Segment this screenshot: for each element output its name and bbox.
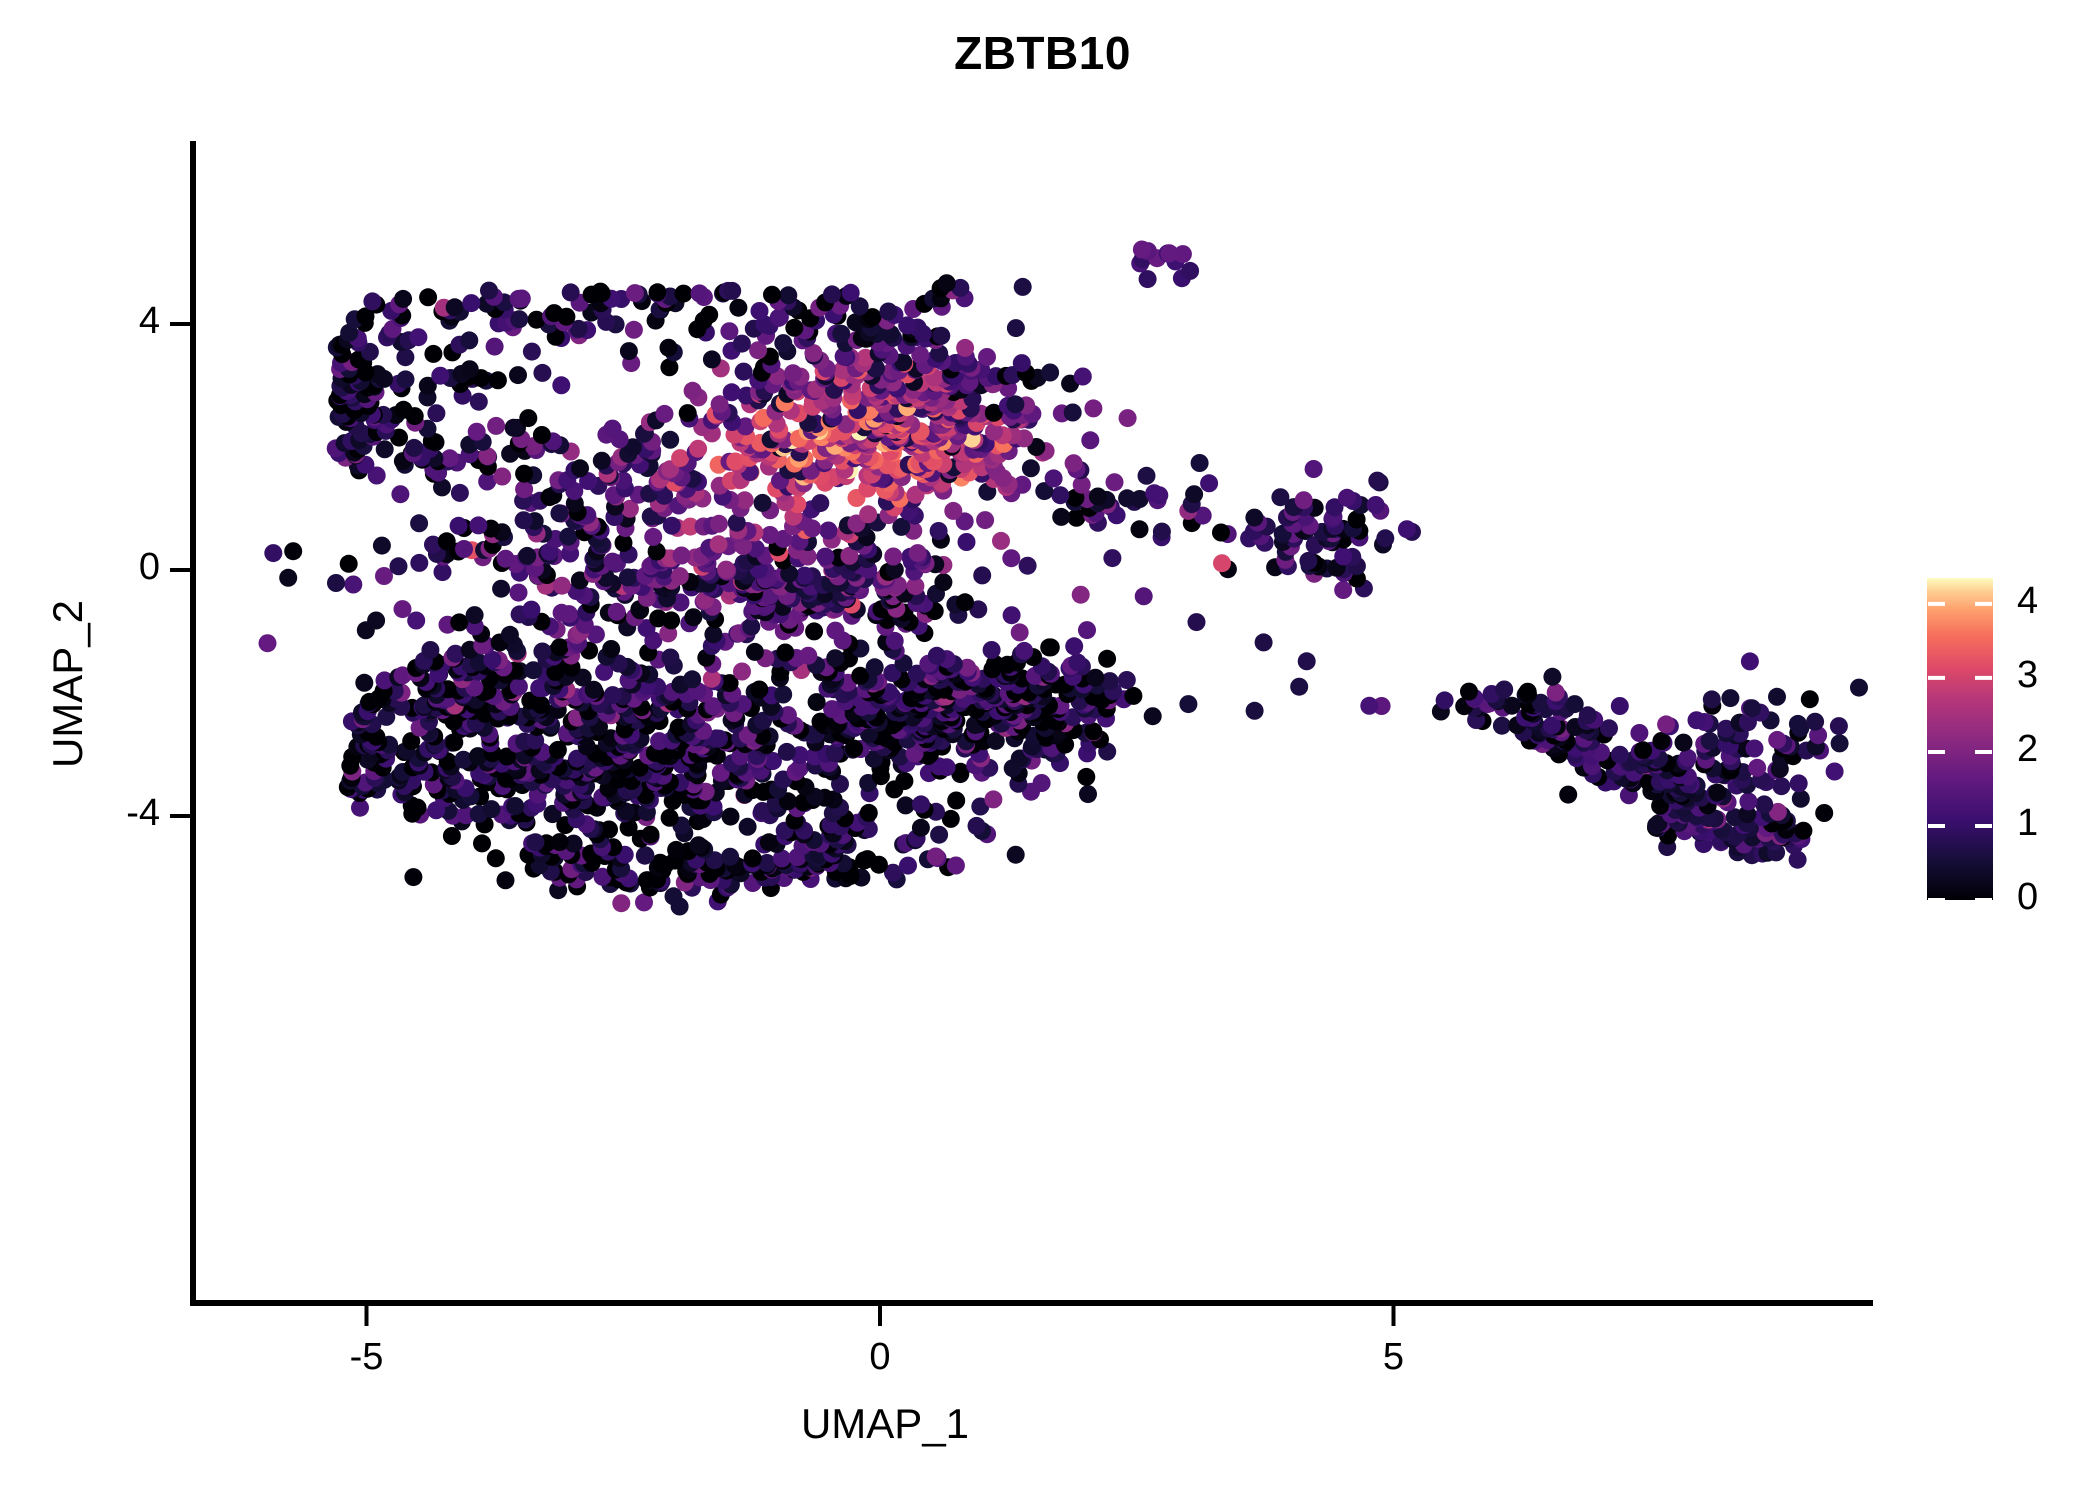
y-tick-label: 4	[70, 300, 160, 343]
scatter-points	[259, 241, 1869, 916]
umap-feature-plot: ZBTB10	[0, 0, 2100, 1500]
x-axis-title: UMAP_1	[0, 1400, 1770, 1448]
colorbar-tick-label: 0	[2017, 876, 2038, 919]
x-tick-label: -5	[322, 1336, 412, 1379]
x-tick-label: 0	[835, 1336, 925, 1379]
x-tick-label: 5	[1349, 1336, 1439, 1379]
y-tick-label: 0	[70, 546, 160, 589]
colorbar-tick-label: 1	[2017, 802, 2038, 845]
colorbar-tick-label: 2	[2017, 728, 2038, 771]
y-tick-label: -4	[70, 792, 160, 835]
colorbar-tick-label: 3	[2017, 654, 2038, 697]
plot-canvas	[0, 0, 2100, 1500]
colorbar	[1927, 578, 1993, 900]
colorbar-tick-label: 4	[2017, 580, 2038, 623]
y-axis-title: UMAP_2	[44, 434, 92, 934]
